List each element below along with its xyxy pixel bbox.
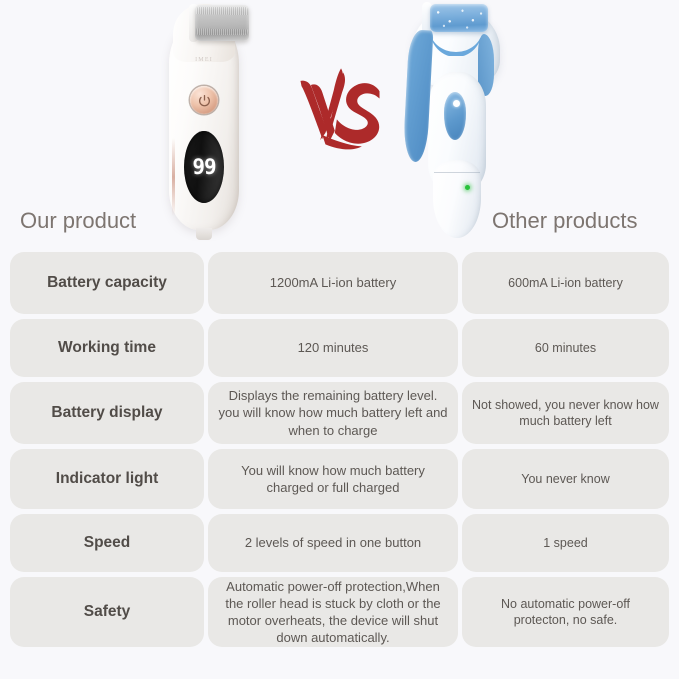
- power-icon: [190, 86, 218, 114]
- feature-label: Safety: [10, 577, 204, 647]
- our-product-value: Displays the remaining battery level. yo…: [208, 382, 458, 444]
- our-product-value: 120 minutes: [208, 319, 458, 377]
- feature-label: Battery display: [10, 382, 204, 444]
- table-row: Battery display Displays the remaining b…: [0, 382, 679, 444]
- other-product-value: 1 speed: [462, 514, 669, 572]
- our-device-battery-display: 99: [184, 131, 224, 203]
- other-device-seam: [434, 172, 480, 173]
- our-product-value: 2 levels of speed in one button: [208, 514, 458, 572]
- other-product-value: No automatic power-off protecton, no saf…: [462, 577, 669, 647]
- feature-label: Battery capacity: [10, 252, 204, 314]
- other-product-value: 60 minutes: [462, 319, 669, 377]
- roller-head-icon: [430, 4, 488, 32]
- comparison-table: Battery capacity 1200mA Li-ion battery 6…: [0, 252, 679, 652]
- column-header-other-products: Other products: [492, 208, 638, 234]
- our-product-value: 1200mA Li-ion battery: [208, 252, 458, 314]
- other-device-chevron: [426, 38, 486, 56]
- table-row: Indicator light You will know how much b…: [0, 449, 679, 509]
- table-row: Working time 120 minutes 60 minutes: [0, 319, 679, 377]
- roller-head-icon: [195, 5, 249, 41]
- indicator-led-icon: [465, 185, 470, 190]
- other-product-value: Not showed, you never know how much batt…: [462, 382, 669, 444]
- table-row: Battery capacity 1200mA Li-ion battery 6…: [0, 252, 679, 314]
- table-row: Speed 2 levels of speed in one button 1 …: [0, 514, 679, 572]
- our-product-value: You will know how much battery charged o…: [208, 449, 458, 509]
- our-product-value: Automatic power-off protection,When the …: [208, 577, 458, 647]
- feature-label: Speed: [10, 514, 204, 572]
- battery-percent-value: 99: [192, 157, 215, 178]
- other-product-value: You never know: [462, 449, 669, 509]
- feature-label: Indicator light: [10, 449, 204, 509]
- other-product-value: 600mA Li-ion battery: [462, 252, 669, 314]
- other-product-image: [404, 0, 512, 240]
- our-product-image: IMEI 99: [163, 0, 245, 248]
- our-device-brand-text: IMEI: [185, 57, 223, 63]
- our-device-base: [196, 228, 212, 240]
- table-row: Safety Automatic power-off protection,Wh…: [0, 577, 679, 647]
- feature-label: Working time: [10, 319, 204, 377]
- column-header-our-product: Our product: [20, 208, 136, 234]
- vs-badge: [288, 58, 392, 162]
